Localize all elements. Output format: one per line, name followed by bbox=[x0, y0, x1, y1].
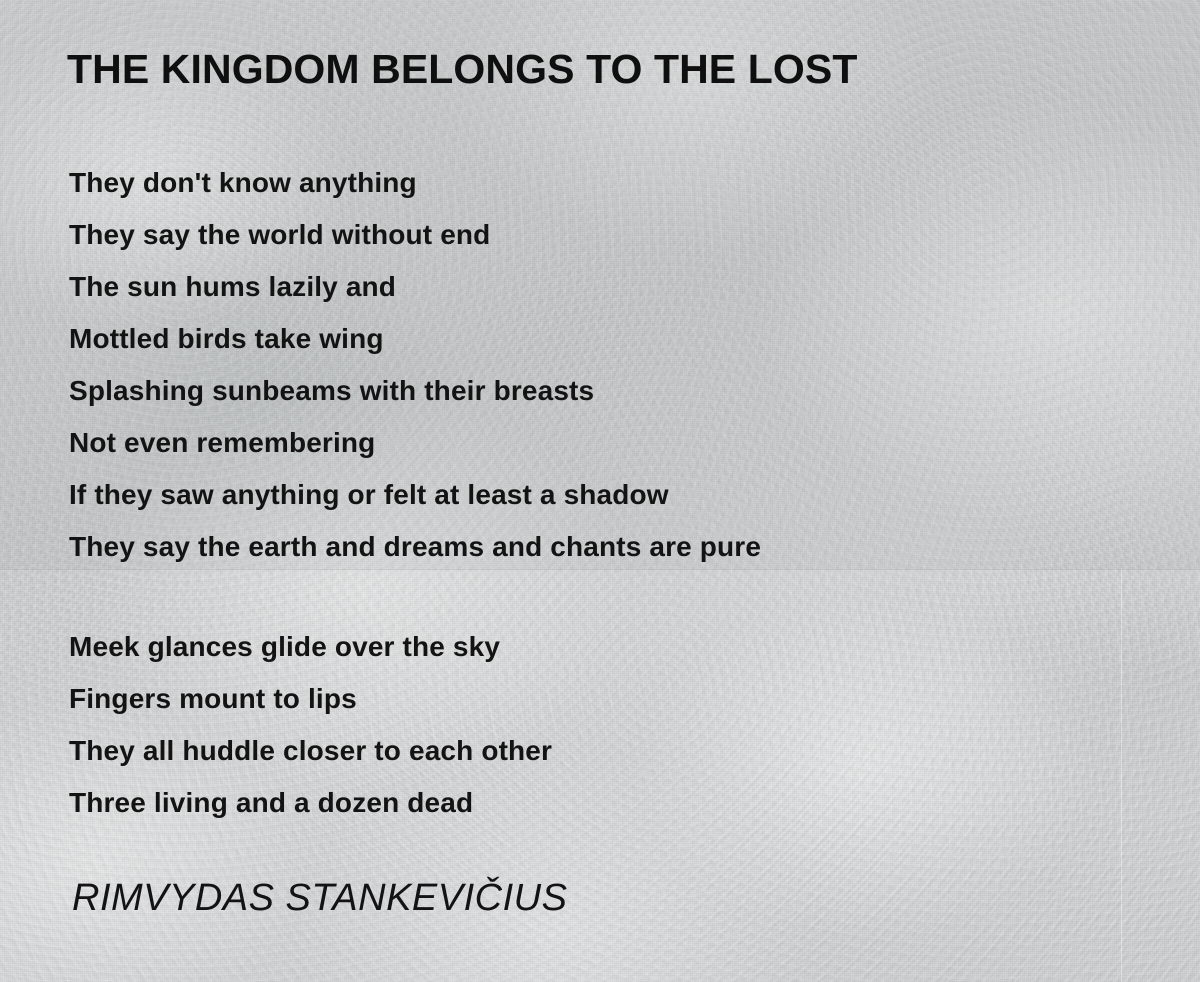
poem-line: Three living and a dozen dead bbox=[69, 777, 552, 829]
poem-line: Not even remembering bbox=[69, 417, 761, 469]
stanza-first: They don't know anything They say the wo… bbox=[69, 157, 761, 573]
poem-line: Fingers mount to lips bbox=[69, 673, 552, 725]
poem-line: They say the world without end bbox=[69, 209, 761, 261]
poem-line: They all huddle closer to each other bbox=[69, 725, 552, 777]
page-title: THE KINGDOM BELONGS TO THE LOST bbox=[67, 47, 857, 93]
poem-author: RIMVYDAS STANKEVIČIUS bbox=[72, 877, 567, 920]
poem-line: Mottled birds take wing bbox=[69, 313, 761, 365]
poem-line: They say the earth and dreams and chants… bbox=[69, 521, 761, 573]
poem-line: Meek glances glide over the sky bbox=[69, 621, 552, 673]
stanza-second: Meek glances glide over the sky Fingers … bbox=[69, 621, 552, 829]
poem-poster: THE KINGDOM BELONGS TO THE LOST They don… bbox=[0, 0, 1200, 982]
poem-line: If they saw anything or felt at least a … bbox=[69, 469, 761, 521]
poem-line: The sun hums lazily and bbox=[69, 261, 761, 313]
poem-line: They don't know anything bbox=[69, 157, 761, 209]
poem-line: Splashing sunbeams with their breasts bbox=[69, 365, 761, 417]
poem-content: THE KINGDOM BELONGS TO THE LOST They don… bbox=[0, 0, 1200, 982]
